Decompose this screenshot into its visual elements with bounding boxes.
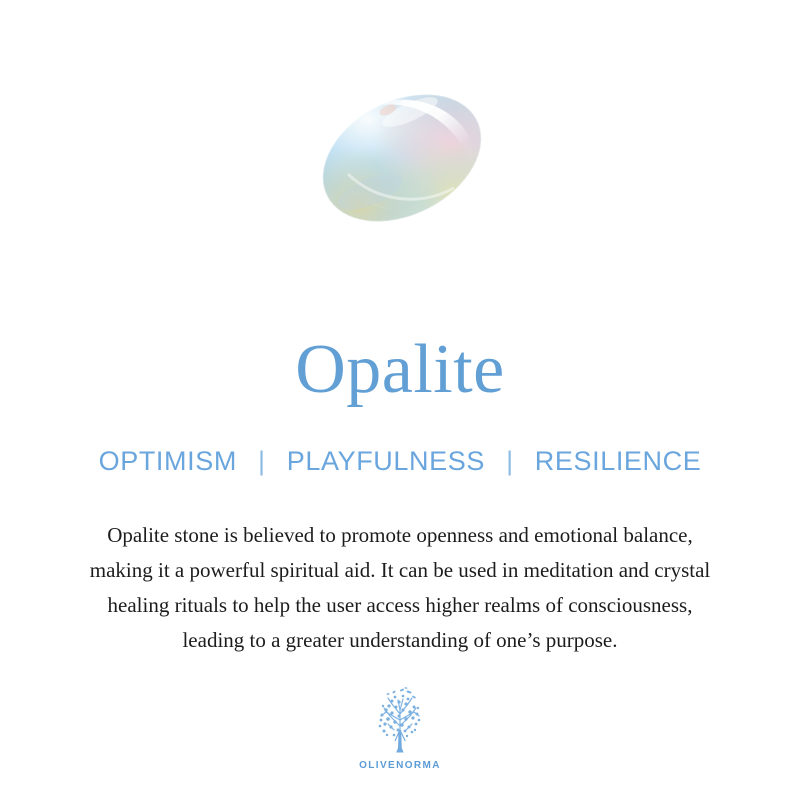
keyword-optimism: OPTIMISM xyxy=(99,446,237,476)
description-line: Opalite stone is believed to promote ope… xyxy=(0,518,800,553)
description-line: healing rituals to help the user access … xyxy=(0,588,800,623)
olive-tree-icon xyxy=(372,686,428,758)
brand-name: OLIVENORMA xyxy=(340,760,460,771)
keyword-list: OPTIMISM | PLAYFULNESS | RESILIENCE xyxy=(0,444,800,478)
opalite-stone-image xyxy=(314,88,490,228)
keyword-separator: | xyxy=(245,446,279,476)
hero-image-area xyxy=(0,0,800,310)
keyword-playfulness: PLAYFULNESS xyxy=(287,446,485,476)
keyword-resilience: RESILIENCE xyxy=(535,446,702,476)
stone-iridescence-layers xyxy=(314,88,490,228)
opalite-stone-graphic xyxy=(314,88,490,228)
description-line: leading to a greater understanding of on… xyxy=(0,623,800,658)
page-title: Opalite xyxy=(0,331,800,409)
keyword-separator: | xyxy=(493,446,527,476)
description-line: making it a powerful spiritual aid. It c… xyxy=(0,553,800,588)
description-paragraph: Opalite stone is believed to promote ope… xyxy=(0,518,800,658)
brand-logo: OLIVENORMA xyxy=(340,686,460,771)
opalite-info-card: Opalite OPTIMISM | PLAYFULNESS | RESILIE… xyxy=(0,0,800,800)
